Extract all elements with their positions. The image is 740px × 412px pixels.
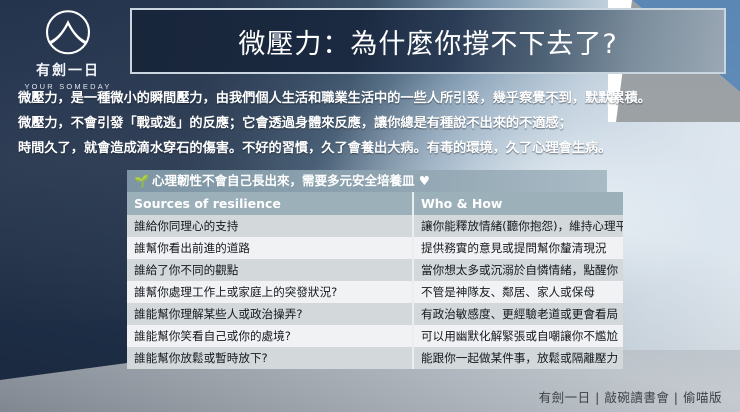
cell-who-how: 不管是神隊友、鄰居、家人或保母 — [413, 281, 623, 303]
cell-source: 誰給你同理心的支持 — [127, 215, 413, 237]
table-row: 誰能幫你笑看自己或你的處境? 可以用幽默化解緊張或自嘲讓你不尷尬 — [127, 325, 623, 347]
column-header-sources: Sources of resilience — [127, 192, 413, 215]
page-title: 微壓力：為什麼你撐不下去了? — [238, 22, 617, 61]
table-row: 誰給你同理心的支持 讓你能釋放情緒(聽你抱怨)，維持心理平衡 — [127, 215, 623, 237]
table-caption-text: 心理韌性不會自己長出來，需要多元安全培養皿 ♥ — [152, 170, 430, 192]
body-paragraph: 微壓力，是一種微小的瞬間壓力，由我們個人生活和職業生活中的一些人所引發，幾乎察覺… — [18, 86, 730, 161]
title-banner: 微壓力：為什麼你撐不下去了? — [130, 8, 726, 74]
cell-who-how: 有政治敏感度、更經驗老道或更會看局 — [413, 303, 623, 325]
cell-who-how: 提供務實的意見或提問幫你釐清現況 — [413, 237, 623, 259]
body-line: 微壓力，不會引發「戰或逃」的反應；它會透過身體來反應，讓你總是有種說不出來的不適… — [18, 111, 730, 136]
table-row: 誰能幫你理解某些人或政治操弄? 有政治敏感度、更經驗老道或更會看局 — [127, 303, 623, 325]
body-line: 時間久了，就會造成滴水穿石的傷害。不好的習慣，久了會養出大病。有毒的環境，久了心… — [18, 136, 730, 161]
slide-canvas: 有劍一日 YOUR SOMEDAY 微壓力：為什麼你撐不下去了? 微壓力，是一種… — [0, 0, 740, 412]
cell-source: 誰給了你不同的觀點 — [127, 259, 413, 281]
cell-source: 誰幫你處理工作上或家庭上的突發狀況? — [127, 281, 413, 303]
cell-who-how: 可以用幽默化解緊張或自嘲讓你不尷尬 — [413, 325, 623, 347]
resilience-table-block: 🌱 心理韌性不會自己長出來，需要多元安全培養皿 ♥ Sources of res… — [127, 170, 607, 369]
seedling-icon: 🌱 — [134, 175, 149, 187]
mountain-in-circle-icon — [40, 6, 96, 62]
column-header-who-how: Who & How — [413, 192, 623, 215]
table-caption: 🌱 心理韌性不會自己長出來，需要多元安全培養皿 ♥ — [127, 170, 607, 192]
resilience-table: Sources of resilience Who & How 誰給你同理心的支… — [127, 192, 623, 369]
cell-who-how: 讓你能釋放情緒(聽你抱怨)，維持心理平衡 — [413, 215, 623, 237]
cell-who-how: 當你想太多或沉溺於自憐情緒，點醒你 — [413, 259, 623, 281]
cell-source: 誰幫你看出前進的道路 — [127, 237, 413, 259]
logo-chinese-name: 有劍一日 — [16, 60, 120, 80]
cell-source: 誰能幫你放鬆或暫時放下? — [127, 347, 413, 369]
table-header-row: Sources of resilience Who & How — [127, 192, 623, 215]
cell-who-how: 能跟你一起做某件事，放鬆或隔離壓力 — [413, 347, 623, 369]
cell-source: 誰能幫你笑看自己或你的處境? — [127, 325, 413, 347]
table-row: 誰能幫你放鬆或暫時放下? 能跟你一起做某件事，放鬆或隔離壓力 — [127, 347, 623, 369]
table-row: 誰幫你處理工作上或家庭上的突發狀況? 不管是神隊友、鄰居、家人或保母 — [127, 281, 623, 303]
table-row: 誰幫你看出前進的道路 提供務實的意見或提問幫你釐清現況 — [127, 237, 623, 259]
footer-credit: 有劍一日 | 敲碗讀書會 | 偷喵版 — [539, 387, 722, 406]
table-row: 誰給了你不同的觀點 當你想太多或沉溺於自憐情緒，點醒你 — [127, 259, 623, 281]
brand-logo: 有劍一日 YOUR SOMEDAY — [16, 6, 120, 91]
body-line: 微壓力，是一種微小的瞬間壓力，由我們個人生活和職業生活中的一些人所引發，幾乎察覺… — [18, 86, 730, 111]
cell-source: 誰能幫你理解某些人或政治操弄? — [127, 303, 413, 325]
